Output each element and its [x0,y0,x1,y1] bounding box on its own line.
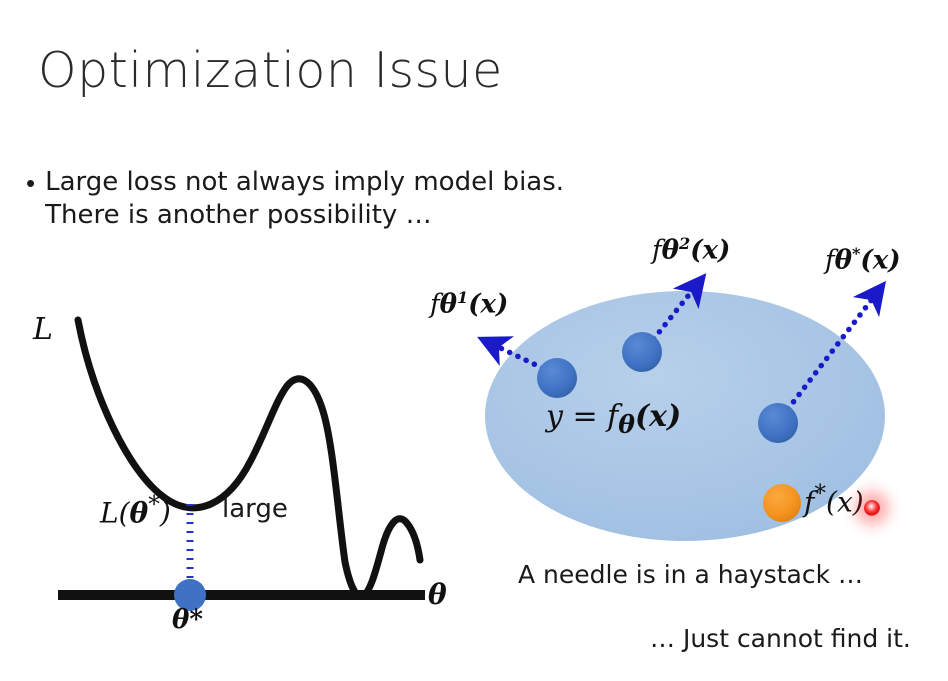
label-f2-x: (x) [690,236,730,266]
theta-axis-label: θ [428,578,447,611]
label-f1-f: f [430,290,440,320]
label-fstar-theta: θ [835,246,852,276]
label-f2-f: f [652,236,662,266]
point-f-theta1 [537,358,577,398]
loss-label-suffix: ) [160,496,171,529]
label-f-theta2: fθ2(x) [652,234,730,266]
loss-at-optimum-label: L(θ*) [100,490,171,529]
page-title: Optimization Issue [38,42,503,99]
label-hypothesis-set: y = fθ(x) [546,399,681,439]
loss-landscape-figure: L L(θ*) large θ θ* [0,282,470,662]
loss-curve [78,320,420,596]
label-f-theta-star: fθ*(x) [825,244,901,276]
label-center-f: f [607,399,618,434]
loss-label-prefix: L( [100,496,130,529]
label-center-x: (x) [635,399,681,434]
label-center-y: y [546,399,563,434]
label-f-theta1: fθ1(x) [430,288,508,320]
laser-pointer-marker [864,500,880,516]
label-f-optimal-target: f*(x) [804,479,864,518]
caption-cannot-find: … Just cannot find it. [650,624,911,653]
loss-label-star: * [148,490,160,518]
loss-label-theta: θ [130,496,149,529]
theta-star-label: θ* [172,605,203,635]
point-f-theta2 [622,332,662,372]
label-f1-superscript: 1 [457,288,468,307]
bullet-marker-icon: • [22,166,35,200]
loss-magnitude-label: large [222,494,288,524]
point-f-optimal-target [763,484,801,522]
label-fstar-f: f [825,246,835,276]
label-f2-theta: θ [662,236,679,266]
label-f1-x: (x) [468,290,508,320]
caption-needle: A needle is in a haystack … [518,560,863,589]
label-ftrue-x: (x) [826,485,864,518]
slide-canvas: Optimization Issue • Large loss not alwa… [0,0,948,681]
bullet-text: Large loss not always imply model bias. … [45,166,642,232]
label-center-theta: θ [618,410,635,439]
point-f-theta-star [758,403,798,443]
label-ftrue-star: * [814,479,826,507]
label-ftrue-f: f [804,485,814,518]
loss-landscape-svg [0,282,470,662]
list-item: • Large loss not always imply model bias… [22,166,642,232]
label-f1-theta: θ [440,290,457,320]
label-f2-superscript: 2 [679,234,690,253]
bullet-list: • Large loss not always imply model bias… [22,166,642,232]
loss-axis-label: L [33,312,53,347]
label-fstar-x: (x) [860,246,900,276]
label-center-eq: = [563,399,607,434]
